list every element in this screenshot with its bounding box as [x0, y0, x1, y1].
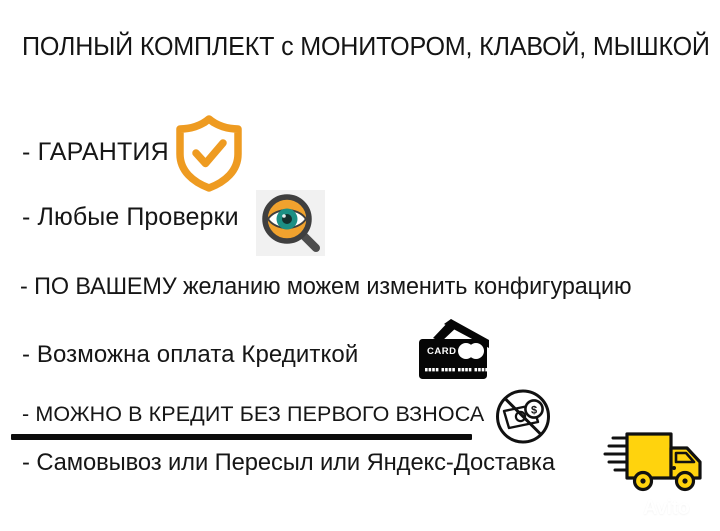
bullet-credit-no-downpayment: - МОЖНО В КРЕДИТ БЕЗ ПЕРВОГО ВЗНОСА — [22, 402, 484, 427]
eye-magnifier-icon — [256, 190, 325, 256]
bullet-credit-card-payment: - Возможна оплата Кредиткой — [22, 341, 358, 369]
page-title: ПОЛНЫЙ КОМПЛЕКТ с МОНИТОРОМ, КЛАВОЙ, МЫШ… — [22, 32, 710, 62]
avito-watermark: Avito — [619, 497, 689, 518]
delivery-truck-icon — [603, 432, 707, 494]
svg-text:CARD: CARD — [427, 346, 456, 357]
bullet-checks: - Любые Проверки — [22, 203, 239, 232]
bullet-guarantee: - ГАРАНТИЯ — [22, 138, 169, 167]
divider — [11, 434, 472, 440]
bullet-configuration: - ПО ВАШЕМУ желанию можем изменить конфи… — [20, 273, 631, 301]
listing-image-canvas: ПОЛНЫЙ КОМПЛЕКТ с МОНИТОРОМ, КЛАВОЙ, МЫШ… — [0, 0, 720, 531]
avito-dots-logo-icon — [619, 497, 640, 518]
svg-text:$: $ — [531, 404, 537, 416]
no-money-down-icon: $ — [493, 387, 553, 446]
credit-card-icon: CARD — [411, 316, 493, 382]
bullet-delivery: - Самовывоз или Пересыл или Яндекс-Доста… — [22, 449, 555, 477]
shield-check-icon — [171, 114, 247, 192]
avito-watermark-text: Avito — [643, 498, 689, 518]
